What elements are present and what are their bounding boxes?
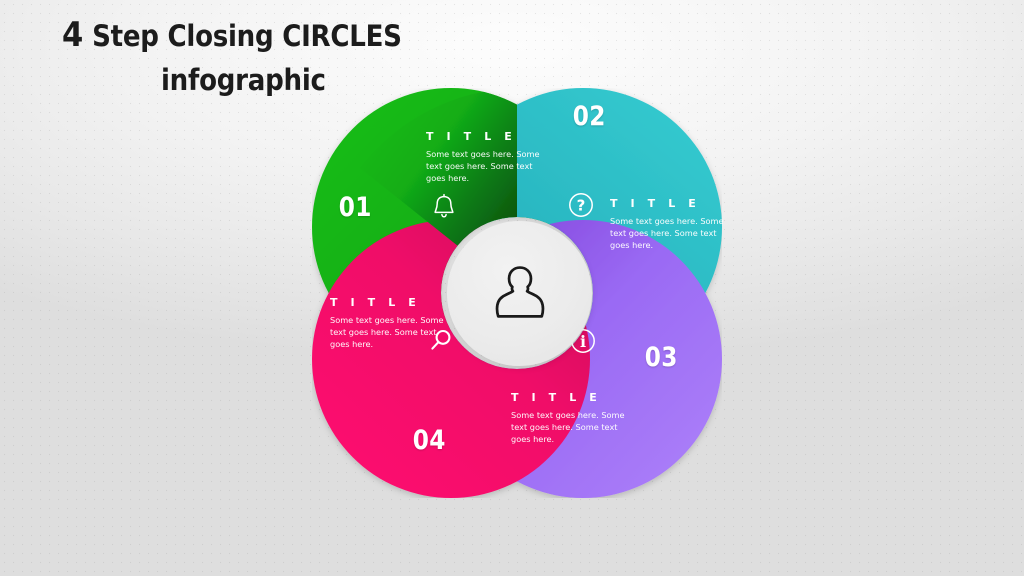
segment-text-02: T I T L E Some text goes here. Some text… [610,197,735,252]
user-icon [486,260,554,328]
title-text-1: Step Closing CIRCLES [92,19,402,53]
bell-icon [427,190,461,224]
title-step-count: 4 [62,15,83,55]
segment-body-02: Some text goes here. Some text goes here… [610,216,735,252]
center-user-badge [447,221,592,366]
segment-text-03: T I T L E Some text goes here. Some text… [511,391,636,446]
segment-title-03: T I T L E [511,391,636,404]
segment-number-02: 02 [573,101,606,132]
question-mark-icon: ? [564,188,598,222]
segment-body-03: Some text goes here. Some text goes here… [511,410,636,446]
title-line-1: 4 Step Closing CIRCLES [62,16,440,54]
page-title: 4 Step Closing CIRCLES infographic [62,16,482,97]
segment-number-03: 03 [645,342,678,373]
segment-number-04: 04 [413,425,446,456]
search-icon [424,324,458,358]
svg-text:?: ? [577,197,586,215]
svg-text:i: i [580,332,586,351]
segment-title-01: T I T L E [426,130,551,143]
slide-canvas: 4 Step Closing CIRCLES infographic [0,0,1024,576]
circles-infographic: 01 02 03 04 T I T L E Some text goes her… [312,88,722,498]
segment-text-01: T I T L E Some text goes here. Some text… [426,130,551,185]
segment-number-01: 01 [339,192,372,223]
segment-title-04: T I T L E [330,296,455,309]
segment-body-01: Some text goes here. Some text goes here… [426,149,551,185]
segment-title-02: T I T L E [610,197,735,210]
